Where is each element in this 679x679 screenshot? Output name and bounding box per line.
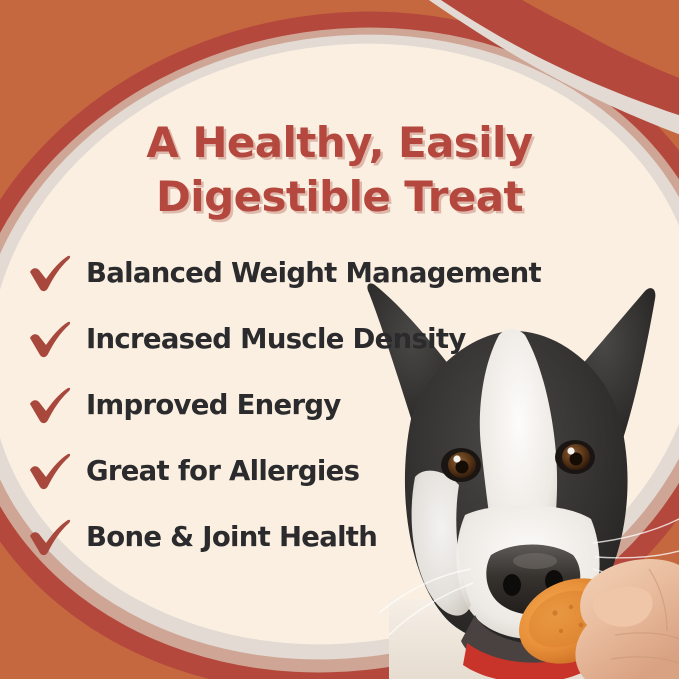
check-icon: [26, 384, 72, 426]
list-item: Balanced Weight Management: [0, 240, 679, 306]
check-icon: [26, 252, 72, 294]
benefit-label: Balanced Weight Management: [86, 257, 541, 289]
benefit-label: Great for Allergies: [86, 455, 359, 487]
list-item: Increased Muscle Density: [0, 306, 679, 372]
benefits-list: Balanced Weight Management Increased Mus…: [0, 240, 679, 570]
check-icon: [26, 450, 72, 492]
benefit-label: Improved Energy: [86, 389, 341, 421]
infographic-poster: A Healthy, Easily Digestible Treat Balan…: [0, 0, 679, 679]
list-item: Bone & Joint Health: [0, 504, 679, 570]
page-title: A Healthy, Easily Digestible Treat: [0, 116, 679, 224]
benefit-label: Bone & Joint Health: [86, 521, 377, 553]
check-icon: [26, 318, 72, 360]
check-icon: [26, 516, 72, 558]
headline-line-2: Digestible Treat: [0, 170, 679, 224]
headline-line-1: A Healthy, Easily: [0, 116, 679, 170]
list-item: Improved Energy: [0, 372, 679, 438]
list-item: Great for Allergies: [0, 438, 679, 504]
benefit-label: Increased Muscle Density: [86, 323, 466, 355]
